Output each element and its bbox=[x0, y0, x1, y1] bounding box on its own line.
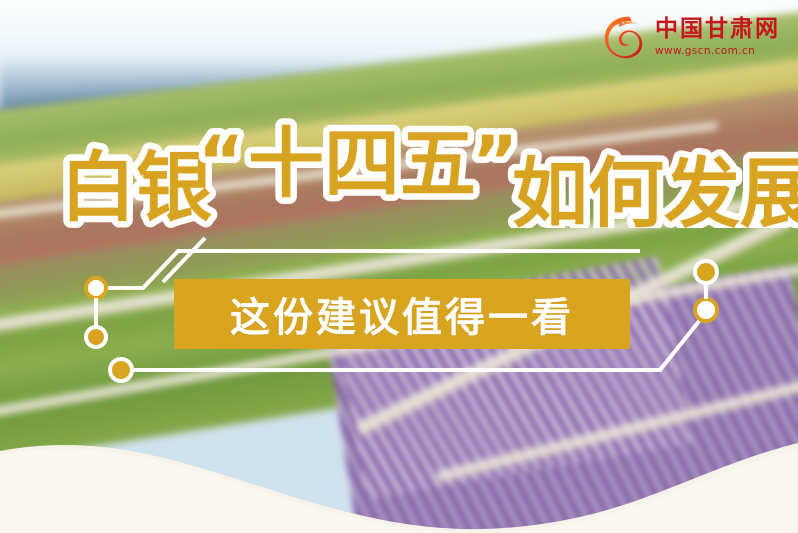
logo-site-url: www.gscn.com.cn bbox=[655, 46, 755, 57]
bottom-wave-overlay bbox=[0, 413, 798, 533]
subtitle-banner: 这份建议值得一看 bbox=[174, 279, 630, 349]
gscn-swirl-logo-icon bbox=[603, 14, 649, 60]
poster-container: 中国甘肃网 www.gscn.com.cn 白银 白银 “ “ 十四五 十四五 … bbox=[0, 0, 798, 533]
subtitle-banner-text: 这份建议值得一看 bbox=[230, 285, 574, 343]
site-logo[interactable]: 中国甘肃网 www.gscn.com.cn bbox=[603, 14, 780, 60]
logo-text-block: 中国甘肃网 www.gscn.com.cn bbox=[655, 18, 780, 57]
logo-site-name: 中国甘肃网 bbox=[655, 18, 780, 41]
